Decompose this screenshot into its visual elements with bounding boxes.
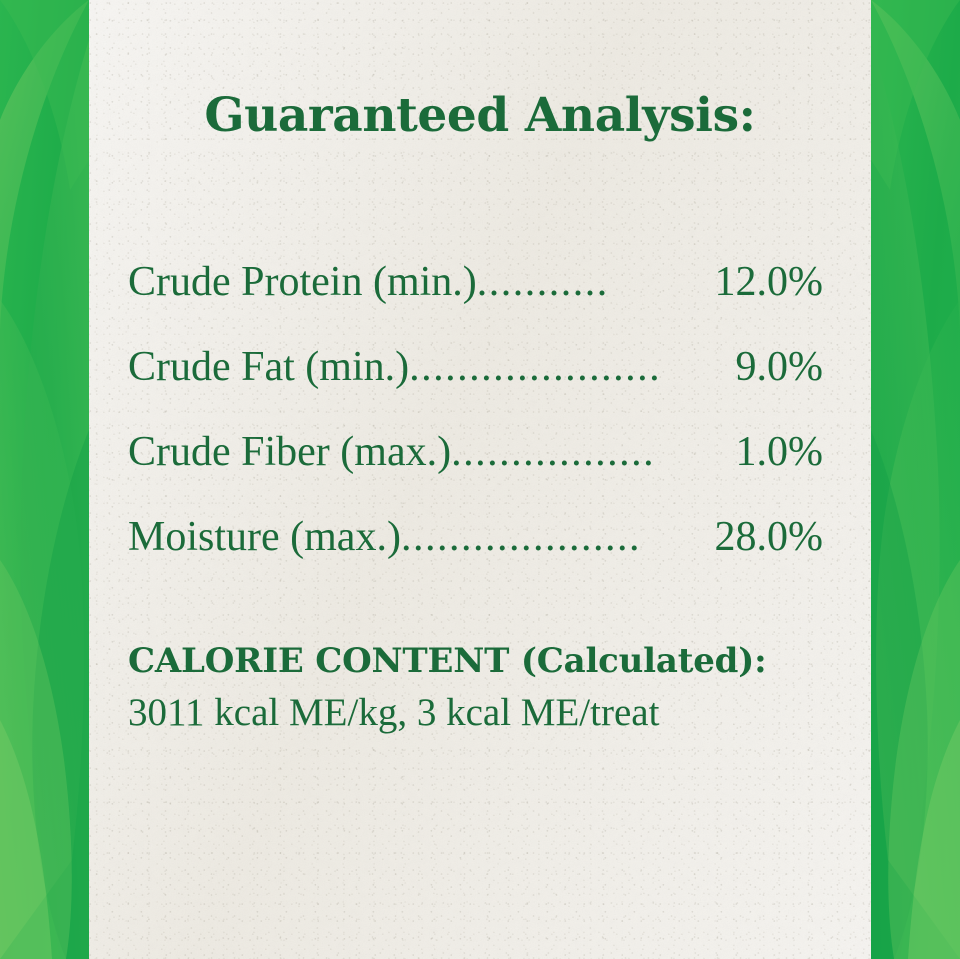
nutrient-label: Moisture (max.)	[128, 495, 401, 580]
calorie-content-value: 3011 kcal ME/kg, 3 kcal ME/treat	[128, 684, 828, 742]
leader-dots: .....................	[409, 325, 735, 410]
page-title: Guaranteed Analysis:	[88, 88, 872, 143]
leader-dots: ....................	[401, 495, 715, 580]
nutrient-label: Crude Fiber (max.)	[128, 410, 451, 495]
calorie-content-block: CALORIE CONTENT (Calculated): 3011 kcal …	[128, 638, 828, 742]
label-content: Guaranteed Analysis: Crude Protein (min.…	[88, 0, 872, 959]
nutrient-value: 1.0%	[736, 410, 824, 495]
nutrient-value: 28.0%	[715, 495, 824, 580]
left-green-leaf-panel	[0, 0, 89, 959]
left-leaf-graphic	[0, 0, 89, 959]
nutrient-row-crude-fiber: Crude Fiber (max.) ................. 1.0…	[128, 410, 823, 495]
guaranteed-analysis-list: Crude Protein (min.) ........... 12.0% C…	[128, 240, 823, 580]
leader-dots: ...........	[477, 240, 715, 325]
nutrient-value: 9.0%	[736, 325, 824, 410]
pet-food-label-panel: Guaranteed Analysis: Crude Protein (min.…	[0, 0, 960, 959]
nutrient-value: 12.0%	[715, 240, 824, 325]
nutrient-label: Crude Fat (min.)	[128, 325, 409, 410]
nutrient-row-moisture: Moisture (max.) .................... 28.…	[128, 495, 823, 580]
right-leaf-graphic	[871, 0, 960, 959]
nutrient-label: Crude Protein (min.)	[128, 240, 477, 325]
nutrient-row-crude-fat: Crude Fat (min.) ..................... 9…	[128, 325, 823, 410]
leader-dots: .................	[451, 410, 735, 495]
nutrient-row-crude-protein: Crude Protein (min.) ........... 12.0%	[128, 240, 823, 325]
calorie-content-heading: CALORIE CONTENT (Calculated):	[128, 638, 828, 684]
right-green-leaf-panel	[871, 0, 960, 959]
